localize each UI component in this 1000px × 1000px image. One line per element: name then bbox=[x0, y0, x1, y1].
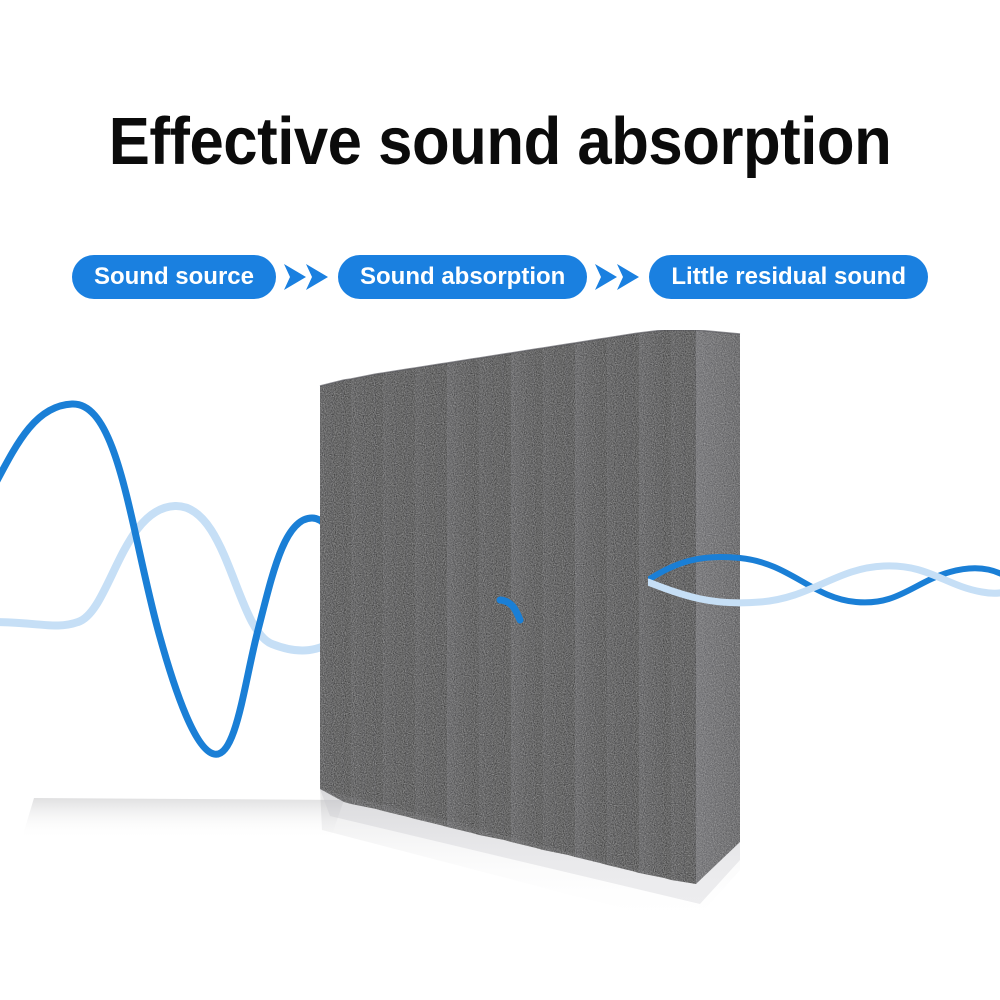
double-chevron-right-icon bbox=[276, 255, 338, 299]
double-chevron-right-icon-2 bbox=[587, 255, 649, 299]
foam-ridges bbox=[320, 330, 740, 884]
flow-step-sound-absorption[interactable]: Sound absorption bbox=[338, 255, 587, 299]
flow-step-sound-source[interactable]: Sound source bbox=[72, 255, 276, 299]
panel-reflection bbox=[22, 798, 344, 840]
acoustic-foam-panel bbox=[22, 330, 740, 926]
page-title: Effective sound absorption bbox=[40, 104, 960, 180]
flow-step-little-residual-sound[interactable]: Little residual sound bbox=[649, 255, 928, 299]
flow-steps: Sound source Sound absorption Little res… bbox=[0, 252, 1000, 302]
promo-banner: Effective sound absorption Sound source … bbox=[0, 0, 1000, 1000]
absorption-illustration bbox=[0, 330, 1000, 930]
